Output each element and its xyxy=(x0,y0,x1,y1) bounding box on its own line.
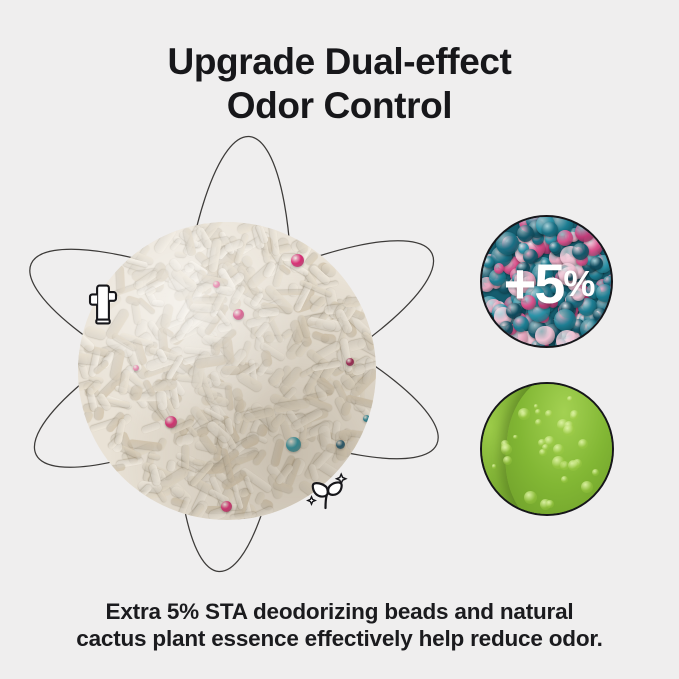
photo-circle-cactus-pad xyxy=(480,382,614,516)
caption-line-2: cactus plant essence effectively help re… xyxy=(0,625,679,652)
litter-pellet xyxy=(271,439,285,468)
deodorizing-bead xyxy=(133,365,139,371)
litter-pellet xyxy=(312,330,330,343)
deodorizing-bead xyxy=(291,254,304,267)
plus-five-percent-label: +5 % xyxy=(482,217,613,348)
litter-pellet xyxy=(343,297,362,307)
litter-pellet xyxy=(189,303,214,312)
litter-pellet xyxy=(108,464,125,473)
percent-sign: % xyxy=(563,266,593,302)
deodorizing-bead xyxy=(336,440,345,449)
title-line-1: Upgrade Dual-effect xyxy=(168,41,512,82)
cactus-icon xyxy=(83,283,123,325)
litter-pellet xyxy=(183,346,215,355)
pad-bump xyxy=(567,396,573,402)
litter-pellet xyxy=(142,421,162,434)
deodorizing-bead xyxy=(139,499,154,514)
pad-bump xyxy=(592,469,599,476)
title-line-2: Odor Control xyxy=(0,84,679,128)
litter-pellet xyxy=(182,445,189,470)
deodorizing-bead xyxy=(221,501,232,512)
deodorizing-bead xyxy=(165,416,177,428)
pad-bump xyxy=(534,404,539,409)
caption: Extra 5% STA deodorizing beads and natur… xyxy=(0,598,679,652)
badge-cactus xyxy=(66,267,140,341)
litter-pellet xyxy=(222,366,241,375)
pad-bump xyxy=(518,408,530,420)
litter-pellet xyxy=(156,390,168,411)
pad-bump xyxy=(524,491,537,504)
caption-line-1: Extra 5% STA deodorizing beads and natur… xyxy=(106,599,574,624)
pad-bump xyxy=(561,476,568,483)
pad-bump xyxy=(535,409,541,415)
deodorizing-bead xyxy=(233,309,244,320)
litter-pellet xyxy=(152,299,164,306)
badge-sprout xyxy=(288,452,366,530)
pad-bump xyxy=(513,435,518,440)
photo-circle-deodorizing-beads: +5 % xyxy=(480,215,613,348)
deodorizing-bead xyxy=(286,437,301,452)
deodorizing-bead xyxy=(213,281,220,288)
litter-pellet xyxy=(239,433,260,450)
deodorizing-bead xyxy=(363,415,370,422)
infographic-canvas: Upgrade Dual-effect Odor Control xyxy=(0,0,679,679)
pad-bump xyxy=(492,464,497,469)
litter-pellet xyxy=(94,406,105,420)
litter-pellet xyxy=(167,459,176,471)
pad-bump xyxy=(563,425,574,436)
page-title: Upgrade Dual-effect Odor Control xyxy=(0,40,679,128)
pad-bump xyxy=(552,456,565,469)
plus-five-value: +5 xyxy=(504,256,564,312)
deodorizing-bead xyxy=(346,358,354,366)
sprout-sparkle-icon xyxy=(304,468,350,514)
